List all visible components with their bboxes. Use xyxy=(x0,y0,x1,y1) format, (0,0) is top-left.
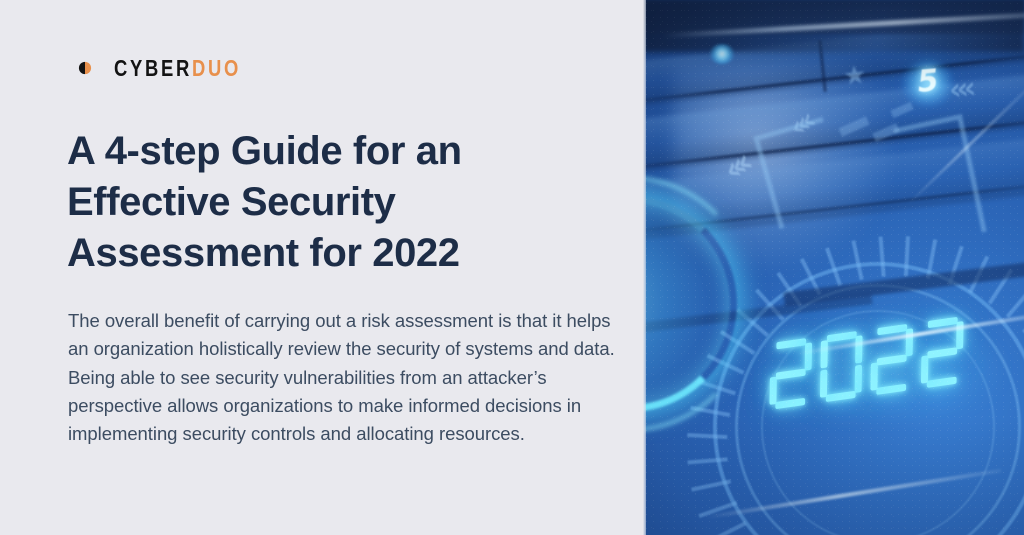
blog-hero-banner: CYBER DUO A 4-step Guide for an Effectiv… xyxy=(0,0,1024,535)
hero-image: ★ 5 ‹‹‹ ‹‹‹ ‹‹‹ xyxy=(643,0,1024,535)
image-color-grade xyxy=(643,0,1024,535)
brand-wordmark: CYBER DUO xyxy=(114,57,241,80)
panel-divider xyxy=(643,0,646,535)
brand-wordmark-accent: DUO xyxy=(192,57,241,80)
text-panel: CYBER DUO A 4-step Guide for an Effectiv… xyxy=(0,0,643,535)
page-title: A 4-step Guide for an Effective Security… xyxy=(67,126,587,280)
brand-wordmark-primary: CYBER xyxy=(114,57,192,80)
brand-logo[interactable]: CYBER DUO xyxy=(66,48,273,88)
hero-description: The overall benefit of carrying out a ri… xyxy=(68,307,621,448)
cyberduo-eye-logo-icon xyxy=(66,49,104,87)
